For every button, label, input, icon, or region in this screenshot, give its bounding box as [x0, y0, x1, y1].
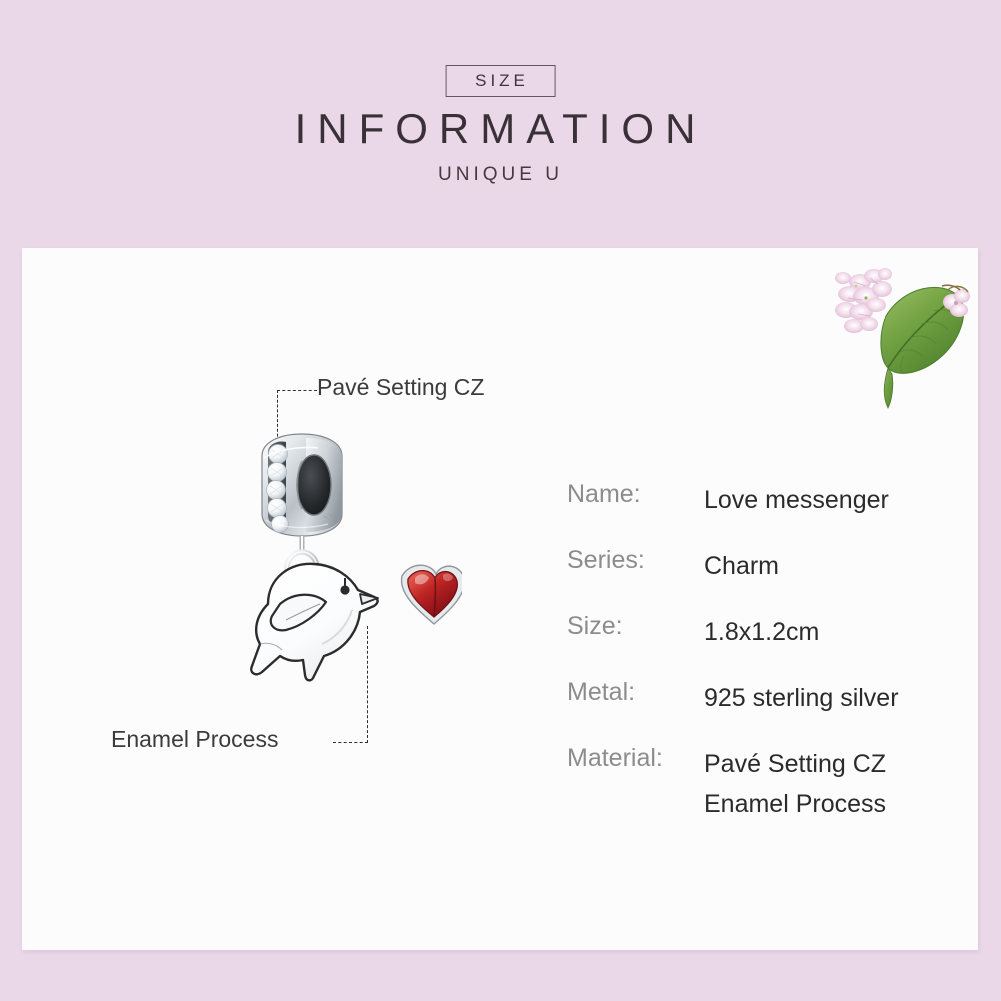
- heart-group: [402, 565, 462, 624]
- table-row: Size: 1.8x1.2cm: [567, 612, 967, 652]
- spec-label-name: Name:: [567, 480, 704, 510]
- spec-value-size: 1.8x1.2cm: [704, 612, 967, 652]
- spec-values-material: Pavé Setting CZ Enamel Process: [704, 744, 967, 824]
- size-badge: SIZE: [445, 65, 556, 97]
- spec-value-name: Love messenger: [704, 480, 967, 520]
- spec-label-material: Material:: [567, 744, 704, 774]
- table-row: Series: Charm: [567, 546, 967, 586]
- page-title: INFORMATION: [295, 106, 707, 152]
- spec-values-metal: 925 sterling silver: [704, 678, 967, 718]
- information-card: Pavé Setting CZ Enamel Process: [22, 248, 978, 950]
- leader-line-pave-horizontal: [277, 390, 317, 391]
- spec-values-name: Love messenger: [704, 480, 967, 520]
- callout-label-enamel-process: Enamel Process: [111, 728, 278, 751]
- leader-line-enamel-horizontal: [333, 742, 368, 743]
- table-row: Metal: 925 sterling silver: [567, 678, 967, 718]
- page-header: SIZE INFORMATION UNIQUE U: [0, 0, 1001, 248]
- table-row: Material: Pavé Setting CZ Enamel Process: [567, 744, 967, 824]
- spec-value-material-line-2: Enamel Process: [704, 784, 967, 824]
- spec-label-metal: Metal:: [567, 678, 704, 708]
- page-subtitle: UNIQUE U: [438, 165, 563, 186]
- product-spec-table: Name: Love messenger Series: Charm Size:…: [567, 480, 967, 850]
- dove-group: [251, 564, 378, 681]
- spec-values-series: Charm: [704, 546, 967, 586]
- bead-group: [262, 434, 342, 536]
- dove-charm-illustration: [202, 428, 462, 718]
- table-row: Name: Love messenger: [567, 480, 967, 520]
- callout-label-pave-setting-cz: Pavé Setting CZ: [317, 376, 484, 399]
- spec-label-size: Size:: [567, 612, 704, 642]
- spec-value-material-line-1: Pavé Setting CZ: [704, 744, 967, 784]
- spec-values-size: 1.8x1.2cm: [704, 612, 967, 652]
- spec-value-metal: 925 sterling silver: [704, 678, 967, 718]
- spec-label-series: Series:: [567, 546, 704, 576]
- lilac-branch-icon: [830, 256, 978, 421]
- spec-value-series: Charm: [704, 546, 967, 586]
